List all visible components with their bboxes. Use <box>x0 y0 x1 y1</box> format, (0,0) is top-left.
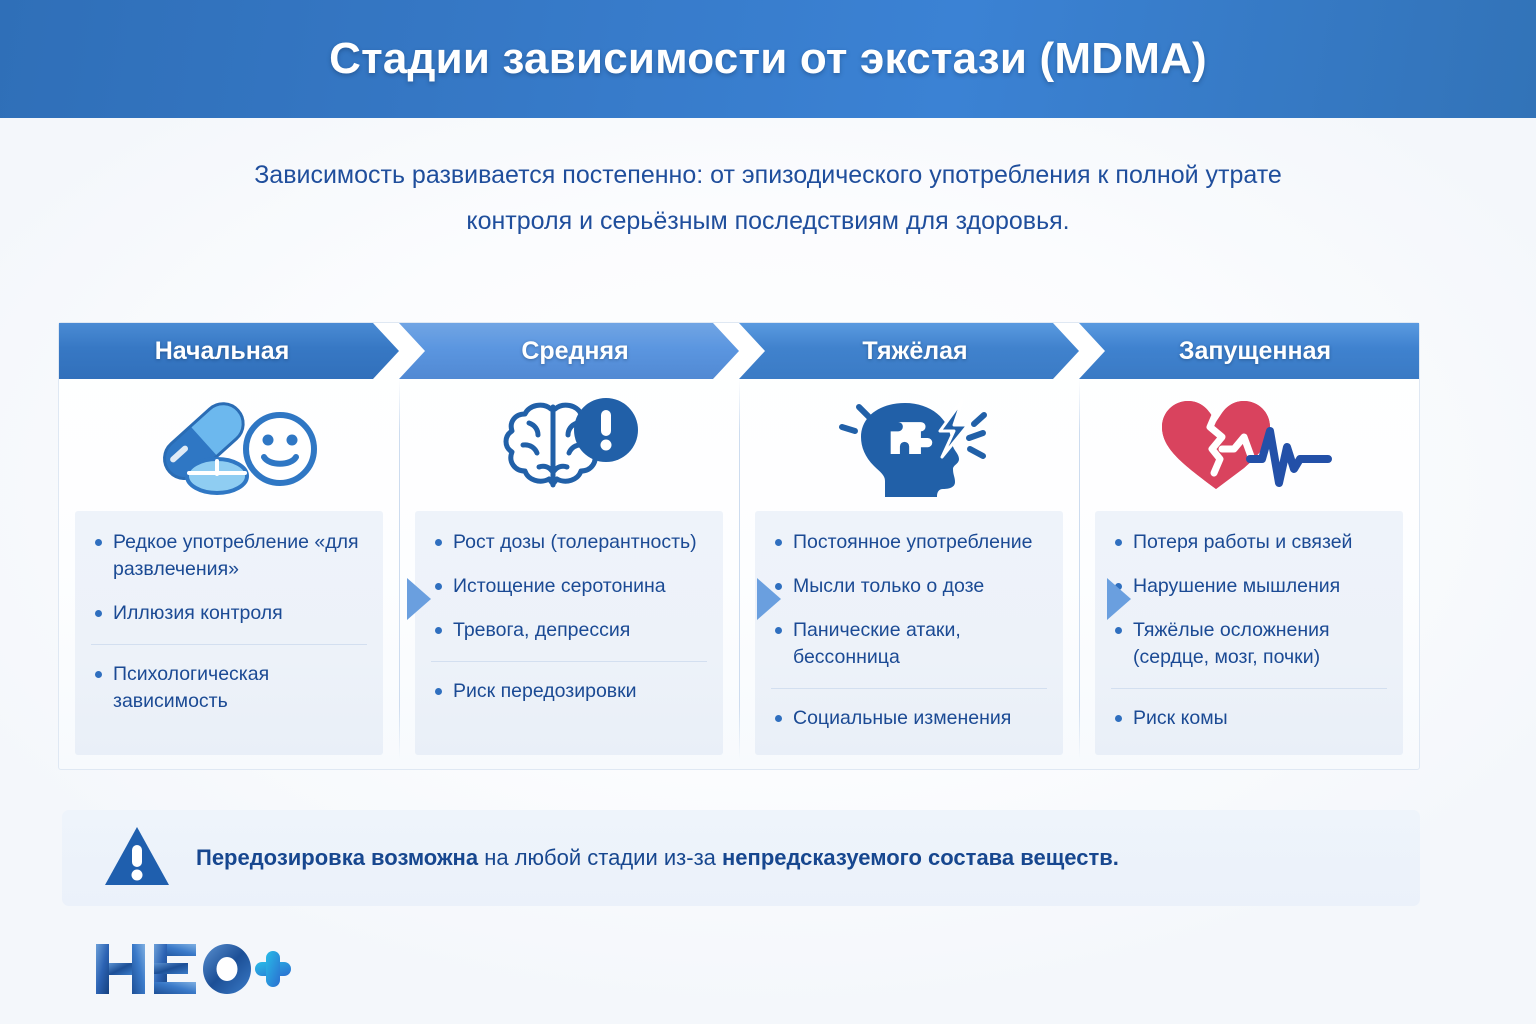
list-item: Психологическая зависимость <box>91 644 367 715</box>
stage-header-advanced[interactable]: Запущенная <box>1079 323 1419 379</box>
logo-letter-n <box>96 944 145 994</box>
stage-details-advanced: Потеря работы и связей Нарушение мышлени… <box>1095 511 1403 755</box>
brain-alert-icon <box>399 379 739 511</box>
stage-details-severe: Постоянное употребление Мысли только о д… <box>755 511 1063 755</box>
stage-header-initial[interactable]: Начальная <box>59 323 399 379</box>
list-item: Нарушение мышления <box>1111 573 1387 600</box>
stage-columns: Начальная <box>59 323 1419 769</box>
stage-bullet-list: Постоянное употребление Мысли только о д… <box>771 529 1047 732</box>
list-item: Истощение серотонина <box>431 573 707 600</box>
stage-label: Начальная <box>155 337 290 366</box>
stage-connector-arrow <box>757 578 781 620</box>
list-item: Риск комы <box>1111 688 1387 732</box>
list-item: Мысли только о дозе <box>771 573 1047 600</box>
list-item: Социальные изменения <box>771 688 1047 732</box>
list-item: Иллюзия контроля <box>91 600 367 627</box>
stage-column-advanced: Запущенная <box>1079 323 1419 769</box>
header-bar: Стадии зависимости от экстази (MDMA) <box>0 0 1536 118</box>
list-item: Тяжёлые осложнения (сердце, мозг, почки) <box>1111 617 1387 671</box>
stage-details-medium: Рост дозы (толерантность) Истощение серо… <box>415 511 723 755</box>
logo-plus-icon <box>255 951 291 987</box>
brand-logo[interactable] <box>92 938 292 1000</box>
pills-smiley-icon <box>59 379 399 511</box>
subtitle-line-1: Зависимость развивается постепенно: от э… <box>178 152 1358 198</box>
stage-bullet-list: Рост дозы (толерантность) Истощение серо… <box>431 529 707 705</box>
warning-bold-start: Передозировка возможна <box>196 845 478 870</box>
warning-banner: Передозировка возможна на любой стадии и… <box>62 810 1420 906</box>
stage-bullet-list: Потеря работы и связей Нарушение мышлени… <box>1111 529 1387 732</box>
stage-header-medium[interactable]: Средняя <box>399 323 739 379</box>
warning-triangle-icon <box>104 825 170 892</box>
list-item: Тревога, депрессия <box>431 617 707 644</box>
page-title: Стадии зависимости от экстази (MDMA) <box>329 34 1207 84</box>
list-item: Редкое употребление «для развлечения» <box>91 529 367 583</box>
stage-label: Средняя <box>521 337 628 366</box>
warning-regular-middle: на любой стадии из-за <box>478 845 722 870</box>
stage-label: Запущенная <box>1179 337 1331 366</box>
stage-label: Тяжёлая <box>862 337 967 366</box>
list-item: Потеря работы и связей <box>1111 529 1387 556</box>
infographic-page: Стадии зависимости от экстази (MDMA) Зав… <box>0 0 1536 1024</box>
logo-letter-e <box>154 944 196 994</box>
warning-bold-end: непредсказуемого состава веществ. <box>722 845 1119 870</box>
stage-column-medium: Средняя <box>399 323 739 769</box>
logo-letter-o <box>203 944 251 994</box>
stage-bullet-list: Редкое употребление «для развлечения» Ил… <box>91 529 367 715</box>
stage-details-initial: Редкое употребление «для развлечения» Ил… <box>75 511 383 755</box>
stage-connector-arrow <box>407 578 431 620</box>
broken-heart-ecg-icon <box>1079 379 1419 511</box>
stage-connector-arrow <box>1107 578 1131 620</box>
list-item: Постоянное употребление <box>771 529 1047 556</box>
subtitle: Зависимость развивается постепенно: от э… <box>178 152 1358 244</box>
stages-container: Начальная <box>58 322 1420 770</box>
list-item: Рост дозы (толерантность) <box>431 529 707 556</box>
stage-header-severe[interactable]: Тяжёлая <box>739 323 1079 379</box>
head-puzzle-lightning-icon <box>739 379 1079 511</box>
stage-column-initial: Начальная <box>59 323 399 769</box>
warning-text: Передозировка возможна на любой стадии и… <box>196 843 1119 873</box>
subtitle-line-2: контроля и серьёзным последствиям для зд… <box>178 198 1358 244</box>
list-item: Риск передозировки <box>431 661 707 705</box>
stage-column-severe: Тяжёлая <box>739 323 1079 769</box>
list-item: Панические атаки, бессонница <box>771 617 1047 671</box>
